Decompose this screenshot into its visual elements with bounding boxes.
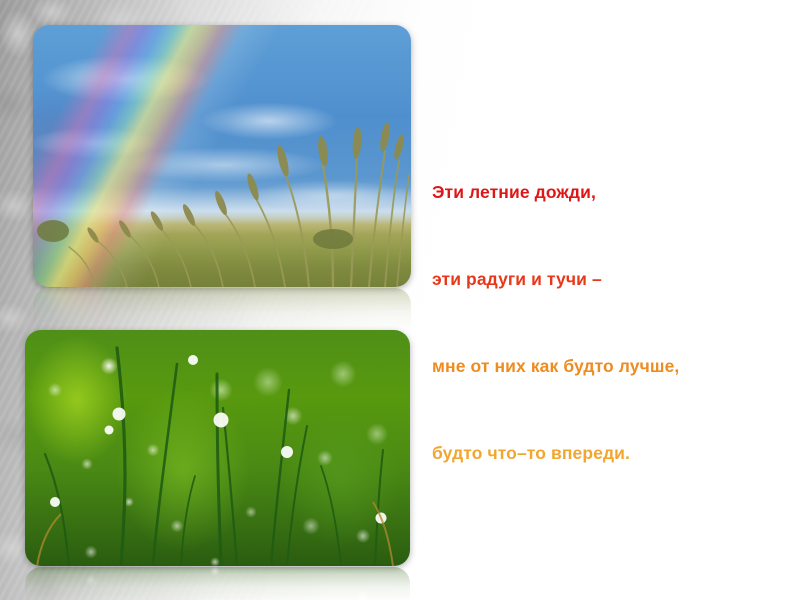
- poem-line: мне от них как будто лучше,: [432, 352, 792, 381]
- rainbow-photo-frame: [33, 25, 411, 287]
- dew-photo-image: [25, 330, 410, 566]
- rainbow-over-field-photo[interactable]: [33, 25, 411, 287]
- poem-line: будто что–то впереди.: [432, 439, 792, 468]
- poem-line: эти радуги и тучи –: [432, 265, 792, 294]
- rainbow-photo-image: [33, 25, 411, 287]
- poem-stanza-1: Эти летние дожди, эти радуги и тучи – мн…: [432, 120, 792, 526]
- dewdrops-on-grass-photo[interactable]: [25, 330, 410, 566]
- dew-photo-frame: [25, 330, 410, 566]
- poem-line: Эти летние дожди,: [432, 178, 792, 207]
- slide-canvas: Эти летние дожди, эти радуги и тучи – мн…: [0, 0, 800, 600]
- poem-text-block: Эти летние дожди, эти радуги и тучи – мн…: [432, 33, 792, 600]
